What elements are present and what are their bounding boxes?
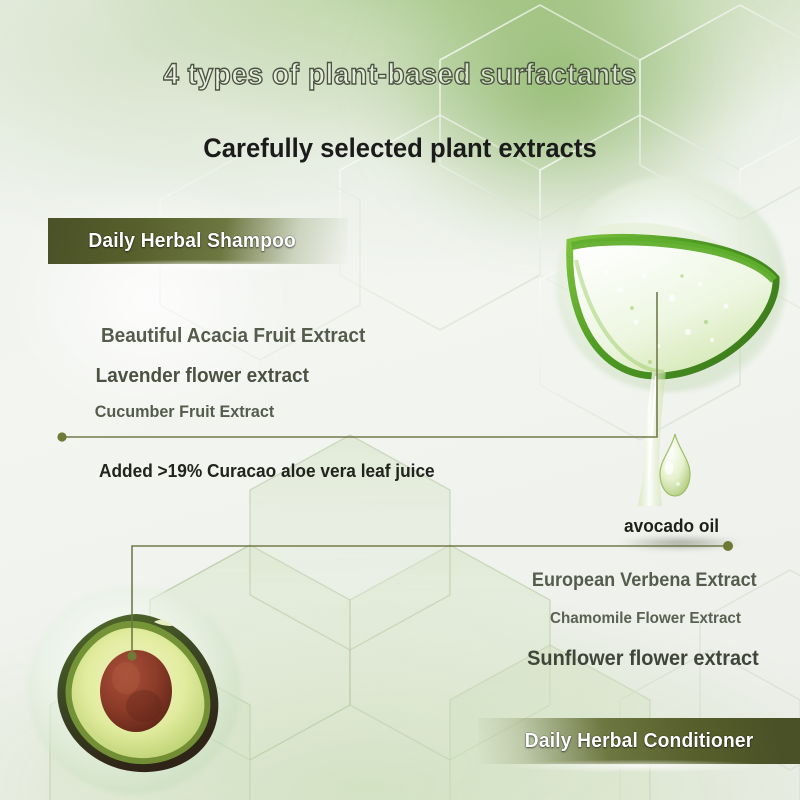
banner-label-conditioner: Daily Herbal Conditioner <box>525 730 754 753</box>
ingredient-conditioner-3: Sunflower flower extract <box>527 647 759 671</box>
ingredient-shampoo-2: Lavender flower extract <box>96 365 309 388</box>
added-aloe-note: Added >19% Curacao aloe vera leaf juice <box>99 461 435 482</box>
ingredient-shampoo-1: Beautiful Acacia Fruit Extract <box>101 325 365 348</box>
ingredient-shampoo-3: Cucumber Fruit Extract <box>95 402 274 422</box>
page-title: 4 types of plant-based surfactants <box>24 58 776 92</box>
banner-daily-herbal-conditioner[interactable]: Daily Herbal Conditioner <box>478 718 800 764</box>
aloe-gel-droplet <box>652 432 698 502</box>
ingredient-conditioner-2: Chamomile Flower Extract <box>550 610 741 628</box>
product-infographic-poster: 4 types of plant-based surfactants Caref… <box>0 0 800 800</box>
banner-label-shampoo: Daily Herbal Shampoo <box>88 230 296 253</box>
callout-label-avocado-oil: avocado oil <box>624 516 719 537</box>
avocado-half-image <box>48 608 226 776</box>
ingredient-conditioner-1: European Verbena Extract <box>532 570 757 592</box>
banner-daily-herbal-shampoo[interactable]: Daily Herbal Shampoo <box>48 218 348 264</box>
page-subtitle: Carefully selected plant extracts <box>20 133 780 164</box>
